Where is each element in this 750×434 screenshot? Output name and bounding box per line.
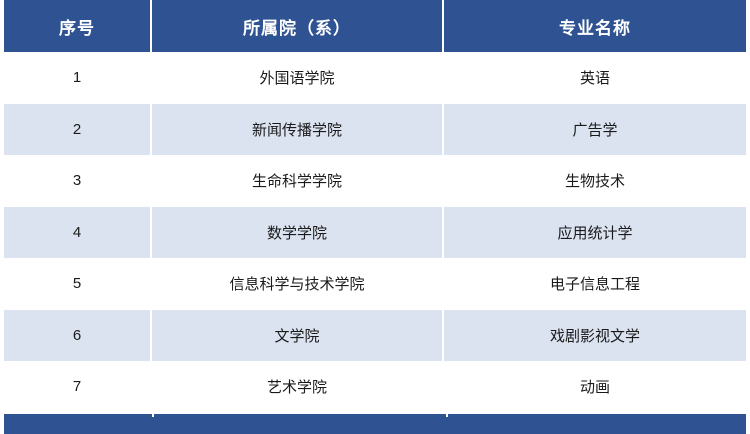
cell-college: 新闻传播学院	[152, 104, 444, 156]
cell-major: 电子信息工程	[444, 258, 746, 310]
table-row: 1 外国语学院 英语	[4, 52, 746, 104]
cell-major: 戏剧影视文学	[444, 310, 746, 362]
cell-college: 信息科学与技术学院	[152, 258, 444, 310]
table-row: 7 艺术学院 动画	[4, 361, 746, 413]
table-header: 序号 所属院（系） 专业名称	[4, 0, 746, 52]
cell-index: 7	[4, 361, 152, 413]
table-row: 3 生命科学学院 生物技术	[4, 155, 746, 207]
cell-major: 生物技术	[444, 155, 746, 207]
header-row: 序号 所属院（系） 专业名称	[4, 0, 746, 52]
header-cell-college: 所属院（系）	[152, 0, 444, 52]
table-row: 2 新闻传播学院 广告学	[4, 104, 746, 156]
cell-index: 6	[4, 310, 152, 362]
footer-segment-major	[448, 414, 746, 417]
table-row: 5 信息科学与技术学院 电子信息工程	[4, 258, 746, 310]
footer-segment-index	[4, 414, 154, 417]
cell-major: 英语	[444, 52, 746, 104]
data-table-container: 序号 所属院（系） 专业名称 1 外国语学院 英语 2 新闻传播学院 广告学 3…	[0, 0, 750, 434]
cell-index: 5	[4, 258, 152, 310]
cell-index: 4	[4, 207, 152, 259]
cell-college: 数学学院	[152, 207, 444, 259]
table-row: 4 数学学院 应用统计学	[4, 207, 746, 259]
table-body: 1 外国语学院 英语 2 新闻传播学院 广告学 3 生命科学学院 生物技术 4 …	[4, 52, 746, 413]
cell-college: 生命科学学院	[152, 155, 444, 207]
table-row: 6 文学院 戏剧影视文学	[4, 310, 746, 362]
cell-major: 动画	[444, 361, 746, 413]
cell-college: 艺术学院	[152, 361, 444, 413]
cell-major: 广告学	[444, 104, 746, 156]
header-cell-index: 序号	[4, 0, 152, 52]
cell-college: 文学院	[152, 310, 444, 362]
cell-index: 3	[4, 155, 152, 207]
cell-index: 2	[4, 104, 152, 156]
programs-table: 序号 所属院（系） 专业名称 1 外国语学院 英语 2 新闻传播学院 广告学 3…	[4, 0, 746, 413]
cell-college: 外国语学院	[152, 52, 444, 104]
footer-segment-college	[154, 414, 448, 417]
cell-index: 1	[4, 52, 152, 104]
cell-major: 应用统计学	[444, 207, 746, 259]
header-cell-major: 专业名称	[444, 0, 746, 52]
table-footer-bar	[4, 414, 746, 434]
